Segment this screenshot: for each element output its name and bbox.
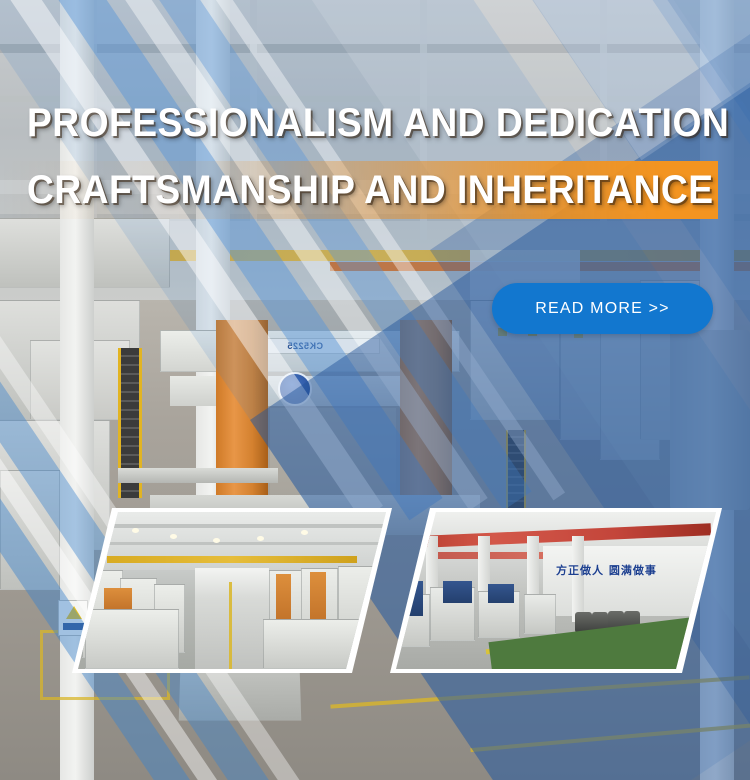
wall-slogan: 方正做人 圆满做事 <box>556 562 657 578</box>
workbench <box>85 609 179 669</box>
panel-beam <box>76 542 388 545</box>
machine-unit <box>104 588 132 610</box>
machine-unit <box>488 584 514 603</box>
ceiling-lamp <box>301 530 308 535</box>
panel-crane <box>107 556 357 563</box>
machine-unit <box>443 581 472 603</box>
machine-unit <box>310 572 326 622</box>
panel-aisle <box>195 568 270 669</box>
workshop-aisle-panel[interactable] <box>72 508 392 673</box>
ceiling-lamp <box>170 534 177 539</box>
panel-image: 方正做人 圆满做事 <box>394 512 718 669</box>
headline-line-2: CRAFTSMANSHIP AND INHERITANCE <box>27 170 714 210</box>
hero-banner: CK5225 <box>0 0 750 780</box>
panel-wall <box>543 546 718 616</box>
machine-unit <box>276 574 292 621</box>
workbench <box>263 619 369 669</box>
machine-unit <box>524 594 556 635</box>
ceiling-lamp <box>257 536 264 541</box>
read-more-button[interactable]: READ MORE >> <box>492 283 713 334</box>
floor-marking <box>229 582 232 669</box>
headline-line-1: PROFESSIONALISM AND DEDICATION <box>27 103 729 143</box>
panel-beam <box>76 524 388 528</box>
workshop-banner-panel[interactable]: 方正做人 圆满做事 <box>390 508 722 673</box>
panel-image <box>76 512 388 669</box>
panel-pillar <box>572 536 584 622</box>
